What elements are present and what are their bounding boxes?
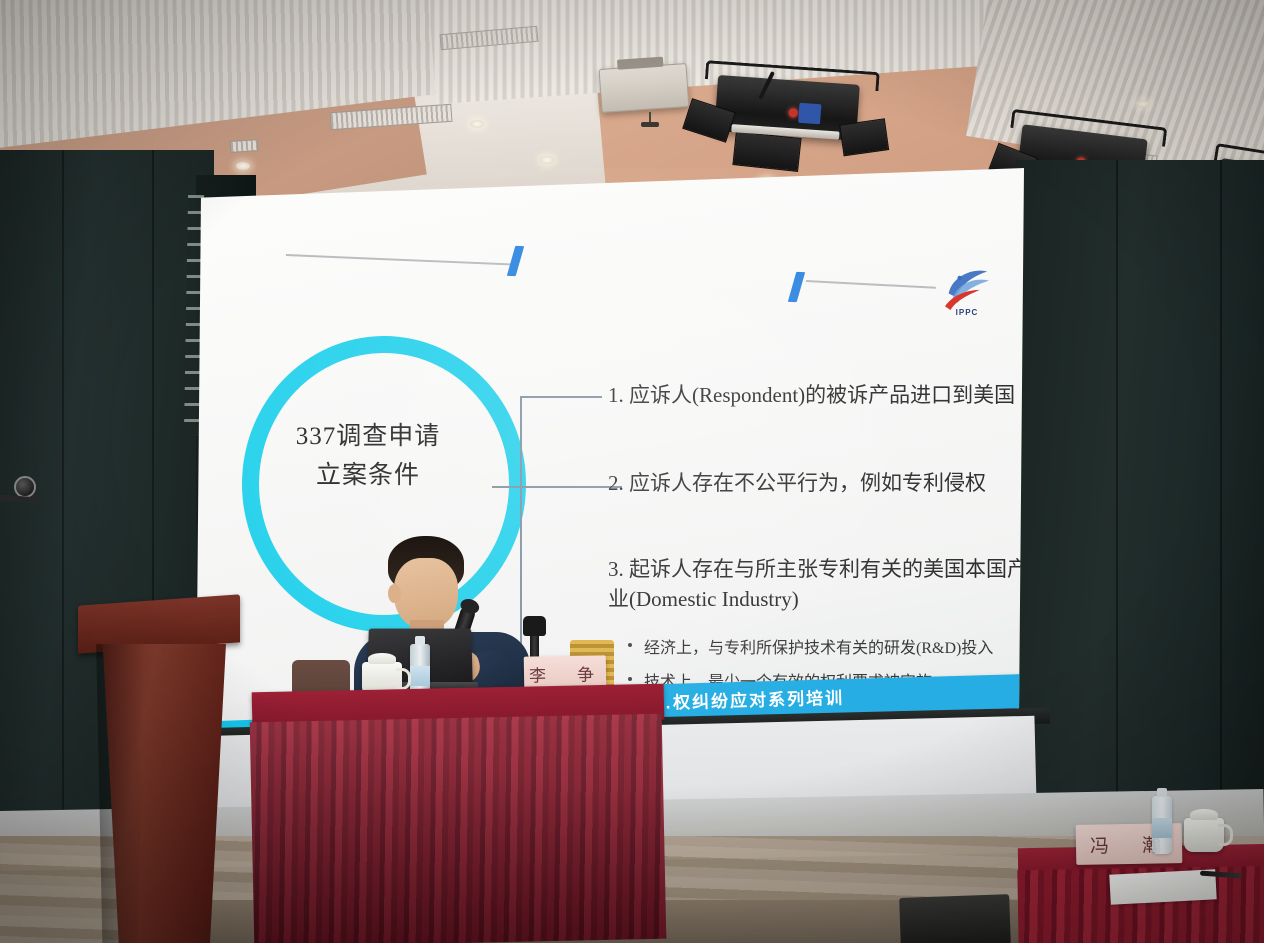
slide-item-3: 3. 起诉人存在与所主张专利有关的美国本国产 业(Domestic Indust… — [608, 554, 1028, 615]
projector — [599, 63, 690, 113]
slide-item-2: 2. 应诉人存在不公平行为，例如专利侵权 — [608, 468, 986, 498]
bottle-label — [1152, 818, 1172, 838]
ippc-logo-text: IPPC — [937, 308, 997, 317]
ceiling-downlight-3 — [540, 156, 554, 164]
slide-circle-line1: 337调查申请 — [258, 418, 478, 457]
stage-light-center — [700, 60, 874, 163]
ippc-logo: IPPC — [937, 266, 997, 322]
ceiling-downlight-2 — [470, 120, 484, 128]
slide-deco-line-right — [806, 280, 936, 288]
slide-item-2-text: 应诉人存在不公平行为，例如专利侵权 — [629, 471, 986, 495]
ceiling-downlight-6 — [1136, 100, 1150, 108]
slide-item-1: 1. 应诉人(Respondent)的被诉产品进口到美国 — [608, 380, 1015, 410]
projector-mount — [640, 112, 660, 130]
camera-bracket — [0, 494, 42, 503]
side-water-bottle — [1152, 796, 1172, 854]
side-tea-mug — [1184, 818, 1224, 852]
slide-deco-line-left — [286, 254, 516, 265]
slide-item-2-number: 2. — [608, 471, 624, 495]
slide-item-1-number: 1. — [608, 383, 624, 407]
bottle-label — [410, 666, 430, 686]
presenter-ear — [388, 584, 401, 603]
slide-item-3-number: 3. — [608, 557, 624, 581]
wall-panel-right — [1016, 160, 1264, 860]
camera-lens-icon — [14, 476, 36, 498]
wall-seam — [62, 150, 64, 850]
slide-item-1-text: 应诉人(Respondent)的被诉产品进口到美国 — [629, 383, 1015, 407]
slide-circle-text: 337调查申请 立案条件 — [258, 418, 478, 496]
wall-seam — [1116, 160, 1118, 860]
connector-branch-1 — [520, 396, 602, 398]
slide-item-3-text: 起诉人存在与所主张专利有关的美国本国产 — [629, 557, 1028, 581]
slide-item-3-line2: 业(Domestic Industry) — [608, 584, 1028, 614]
slide-circle-line2: 立案条件 — [258, 457, 478, 496]
floor-loudspeaker — [899, 894, 1011, 943]
slide-item-3-line1: 3. 起诉人存在与所主张专利有关的美国本国产 — [608, 554, 1028, 584]
stage-light-barndoor-bottom — [732, 131, 801, 172]
stage-light-barndoor-right — [839, 118, 889, 156]
photograph-scene: IPPC 337调查申请 立案条件 1. 应诉人(Respondent)的被诉产 — [0, 0, 1264, 943]
podium-shadow — [92, 644, 144, 943]
podium — [78, 600, 240, 940]
slide-subitem-1: 经济上，与专利所保护技术有关的研发(R&D)投入 — [644, 634, 993, 658]
wall-seam — [1220, 160, 1222, 860]
ippc-logo-mark — [937, 266, 997, 310]
wall-camera-icon — [0, 472, 40, 502]
slide-deco-slash-right — [788, 272, 805, 302]
head-table: 李 争 — [252, 688, 664, 943]
slide-deco-slash-left — [507, 246, 524, 276]
ceiling-vent-2 — [230, 139, 259, 153]
slide-footer-text: …权纠纷应对系列培训 — [654, 684, 845, 714]
connector-branch-2 — [520, 486, 602, 488]
stage-light-gel-clip — [798, 103, 821, 124]
head-table-skirt — [250, 714, 667, 943]
